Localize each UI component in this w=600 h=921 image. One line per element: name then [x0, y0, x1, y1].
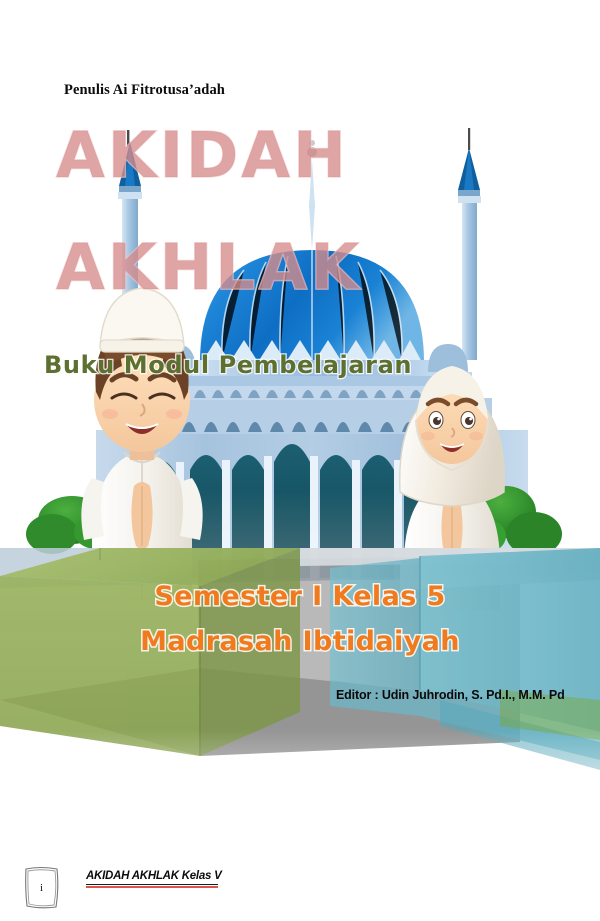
page-number-value: i — [22, 864, 61, 911]
book-title-line-1: AKIDAH — [56, 124, 349, 187]
page-footer: i AKIDAH AKHLAK Kelas V — [0, 862, 600, 921]
footer-rule-red — [86, 886, 218, 888]
green-box — [0, 548, 300, 756]
page-number-box: i — [22, 864, 61, 911]
book-title-line-2: AKHLAK — [56, 236, 362, 299]
editor-line: Editor : Udin Juhrodin, S. Pd.I., M.M. P… — [336, 688, 565, 702]
author-line: Penulis Ai Fitrotusa’adah — [64, 82, 225, 99]
book-subtitle: Buku Modul Pembelajaran — [44, 351, 412, 379]
footer-running-label: AKIDAH AKHLAK Kelas V — [86, 870, 222, 882]
footer-underline — [86, 884, 218, 885]
book-cover-page: Penulis Ai Fitrotusa’adah AKIDAH AKHLAK … — [0, 0, 600, 921]
